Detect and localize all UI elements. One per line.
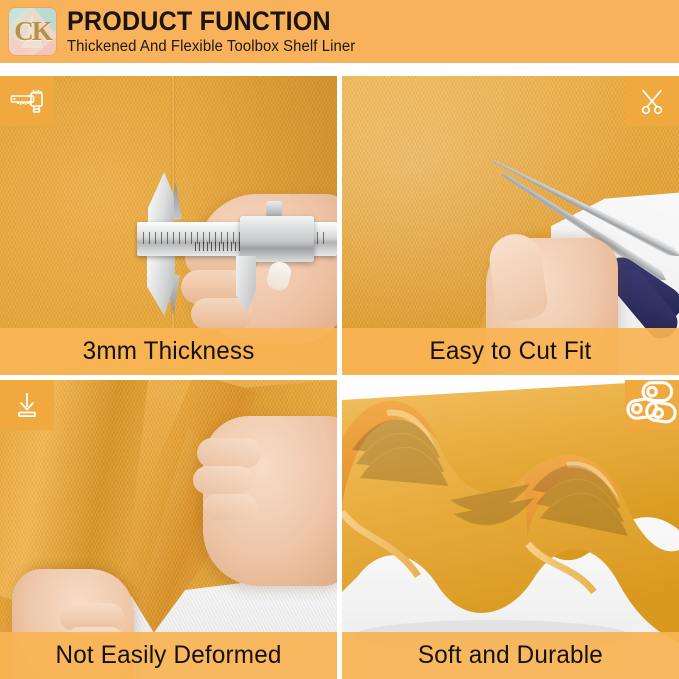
panel-caption: Not Easily Deformed bbox=[0, 632, 337, 679]
page-title: PRODUCT FUNCTION bbox=[67, 8, 346, 35]
page-subtitle: Thickened And Flexible Toolbox Shelf Lin… bbox=[67, 39, 355, 55]
panel-thickness: 3mm Thickness bbox=[0, 76, 337, 375]
panel-caption-text: Soft and Durable bbox=[418, 641, 603, 670]
header-titles: PRODUCT FUNCTION Thickened And Flexible … bbox=[67, 8, 367, 55]
panel-caption-text: Easy to Cut Fit bbox=[430, 337, 592, 366]
ck-brand-logo: CK bbox=[9, 8, 56, 55]
grid-divider-horizontal bbox=[0, 375, 679, 380]
logo-monogram-text: CK bbox=[9, 8, 56, 55]
panel-caption-text: Not Easily Deformed bbox=[55, 641, 281, 670]
scissors-icon bbox=[625, 76, 679, 126]
product-function-infographic: CK PRODUCT FUNCTION Thickened And Flexib… bbox=[0, 0, 679, 679]
press-down-arrow-icon bbox=[0, 380, 54, 430]
panel-cut: Easy to Cut Fit bbox=[342, 76, 679, 375]
header-band: CK PRODUCT FUNCTION Thickened And Flexib… bbox=[0, 0, 679, 63]
panel-caption: Soft and Durable bbox=[342, 632, 679, 679]
panel-soft: Soft and Durable bbox=[342, 380, 679, 679]
panel-caption-text: 3mm Thickness bbox=[83, 337, 255, 366]
material-rings-icon bbox=[625, 380, 679, 430]
caliper-icon bbox=[0, 76, 54, 126]
panel-caption: Easy to Cut Fit bbox=[342, 328, 679, 375]
panel-caption: 3mm Thickness bbox=[0, 328, 337, 375]
right-hand-pulling-liner bbox=[203, 416, 337, 586]
panel-deform: Not Easily Deformed bbox=[0, 380, 337, 679]
